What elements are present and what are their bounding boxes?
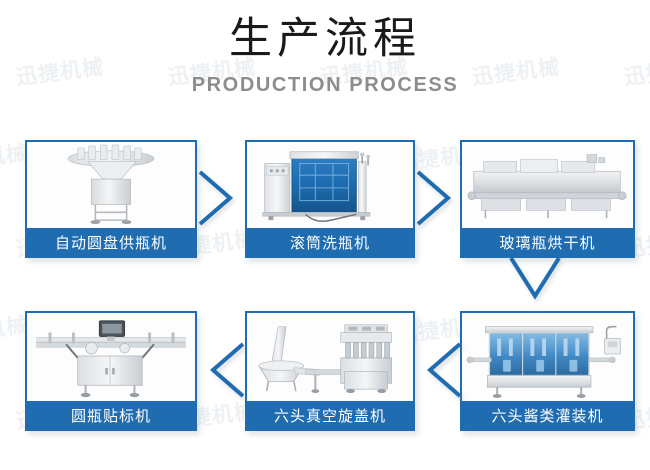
- flow-arrow-right-1: [196, 168, 246, 228]
- process-card-1-label: 自动圆盘供瓶机: [27, 228, 195, 256]
- flow-arrow-right-2: [414, 168, 464, 228]
- process-card-5[interactable]: 六头真空旋盖机: [245, 311, 415, 431]
- machine-photo-round-bottle-labeler: [27, 313, 195, 401]
- flow-arrow-left-2: [414, 340, 464, 400]
- rotary-disc-bottle-feeder-icon: [27, 142, 195, 228]
- six-head-vacuum-capper-icon: [247, 313, 413, 401]
- page-subtitle: PRODUCTION PROCESS: [0, 72, 650, 98]
- flow-arrow-down: [505, 256, 565, 314]
- round-bottle-labeler-icon: [27, 313, 195, 401]
- process-card-3[interactable]: 玻璃瓶烘干机: [460, 140, 635, 258]
- process-card-4-label: 圆瓶贴标机: [27, 401, 195, 429]
- drum-bottle-washer-icon: [247, 142, 413, 228]
- process-card-2[interactable]: 滚筒洗瓶机: [245, 140, 415, 258]
- flow-arrow-left-1: [197, 340, 247, 400]
- process-card-6-label: 六头酱类灌装机: [462, 401, 633, 429]
- process-card-2-label: 滚筒洗瓶机: [247, 228, 413, 256]
- glass-bottle-dryer-icon: [462, 142, 633, 228]
- machine-photo-six-head-sauce-filler: [462, 313, 633, 401]
- process-card-4[interactable]: 圆瓶贴标机: [25, 311, 197, 431]
- process-card-3-label: 玻璃瓶烘干机: [462, 228, 633, 256]
- machine-photo-glass-bottle-dryer: [462, 142, 633, 228]
- process-card-1[interactable]: 自动圆盘供瓶机: [25, 140, 197, 258]
- process-card-5-label: 六头真空旋盖机: [247, 401, 413, 429]
- page-header: 生产流程 PRODUCTION PROCESS: [0, 0, 650, 128]
- machine-photo-six-head-vacuum-capper: [247, 313, 413, 401]
- production-process-infographic: 生产流程 PRODUCTION PROCESS: [0, 0, 650, 470]
- page-title: 生产流程: [0, 12, 650, 66]
- process-card-6[interactable]: 六头酱类灌装机: [460, 311, 635, 431]
- machine-photo-rotary-disc-bottle-feeder: [27, 142, 195, 228]
- six-head-sauce-filler-icon: [462, 313, 633, 401]
- machine-photo-drum-bottle-washer: [247, 142, 413, 228]
